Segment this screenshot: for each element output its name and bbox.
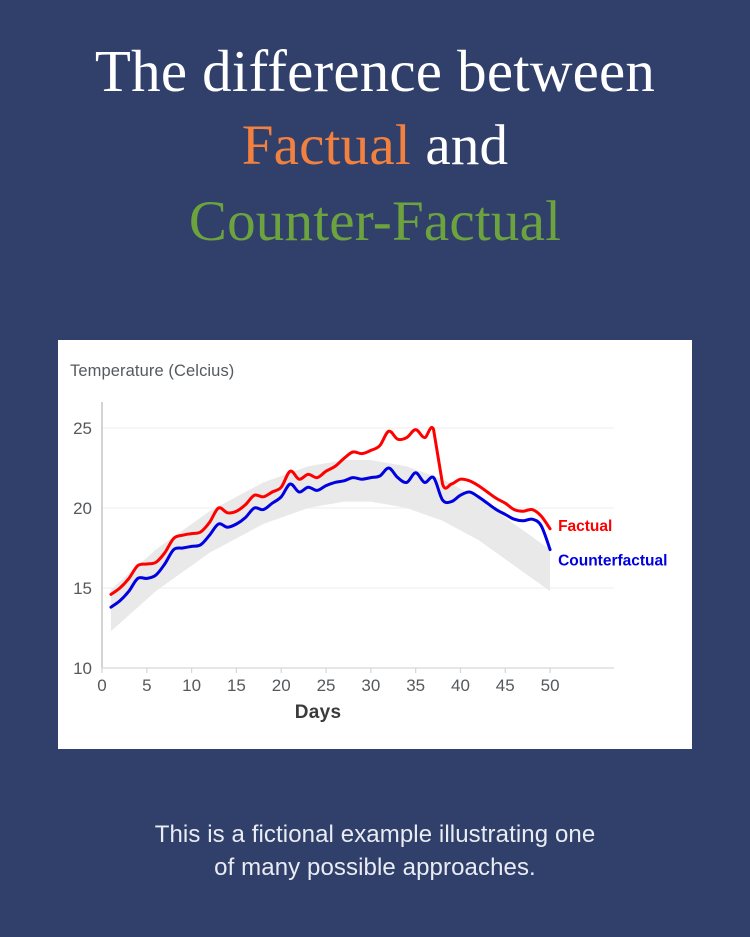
confidence-band [111, 460, 550, 631]
y-tick-label-10: 10 [73, 659, 92, 678]
title-word-factual: Factual [242, 114, 411, 177]
x-tick-label-40: 40 [451, 676, 470, 695]
x-tick-label-0: 0 [97, 676, 106, 695]
x-tick-label-15: 15 [227, 676, 246, 695]
title-line-2: Factual and [0, 108, 750, 184]
chart-plot-area: 1015202505101520253035404550FactualCount… [58, 340, 692, 749]
chart-panel: Temperature (Celcius) 101520250510152025… [58, 340, 692, 749]
x-tick-label-25: 25 [317, 676, 336, 695]
title-line-1: The difference between [0, 34, 750, 108]
caption-line-1: This is a fictional example illustrating… [0, 818, 750, 851]
title-word-counterfactual: Counter-Factual [189, 190, 561, 253]
caption-block: This is a fictional example illustrating… [0, 818, 750, 884]
x-tick-label-10: 10 [182, 676, 201, 695]
y-tick-label-25: 25 [73, 419, 92, 438]
x-axis-title: Days [58, 702, 578, 724]
line-chart-svg: 1015202505101520253035404550FactualCount… [58, 340, 692, 749]
y-tick-label-15: 15 [73, 579, 92, 598]
x-tick-label-30: 30 [361, 676, 380, 695]
x-tick-label-35: 35 [406, 676, 425, 695]
y-tick-label-20: 20 [73, 499, 92, 518]
x-tick-label-45: 45 [496, 676, 515, 695]
title-word-and: and [425, 114, 508, 177]
x-tick-label-20: 20 [272, 676, 291, 695]
x-tick-label-50: 50 [541, 676, 560, 695]
title-line-3: Counter-Factual [0, 184, 750, 260]
x-tick-label-5: 5 [142, 676, 151, 695]
series-label-factual: Factual [558, 518, 612, 535]
title-block: The difference between Factual and Count… [0, 0, 750, 260]
series-label-counterfactual: Counterfactual [558, 553, 667, 570]
caption-line-2: of many possible approaches. [0, 851, 750, 884]
